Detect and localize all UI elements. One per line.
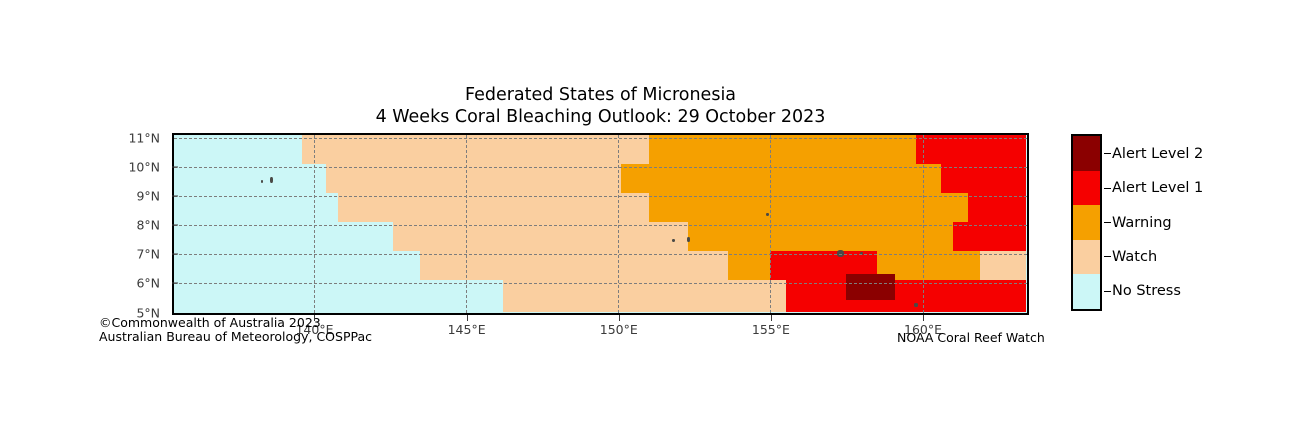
x-tick-mark-160 — [923, 315, 924, 321]
legend-label-no-stress: No Stress — [1112, 283, 1181, 299]
x-tick-mark-145 — [467, 315, 468, 321]
legend-labels: Alert Level 2Alert Level 1WarningWatchNo… — [0, 0, 1293, 447]
legend-label-watch: Watch — [1112, 249, 1157, 265]
x-tick-mark-150 — [619, 315, 620, 321]
y-tick-mark-8 — [172, 225, 178, 226]
legend-label-alert-level-2: Alert Level 2 — [1112, 146, 1203, 162]
y-tick-mark-9 — [172, 196, 178, 197]
y-tick-mark-10 — [172, 167, 178, 168]
y-tick-mark-6 — [172, 283, 178, 284]
legend-label-alert-level-1: Alert Level 1 — [1112, 180, 1203, 196]
legend-label-warning: Warning — [1112, 215, 1172, 231]
y-tick-mark-7 — [172, 254, 178, 255]
x-tick-mark-140 — [314, 315, 315, 321]
x-tick-mark-155 — [771, 315, 772, 321]
